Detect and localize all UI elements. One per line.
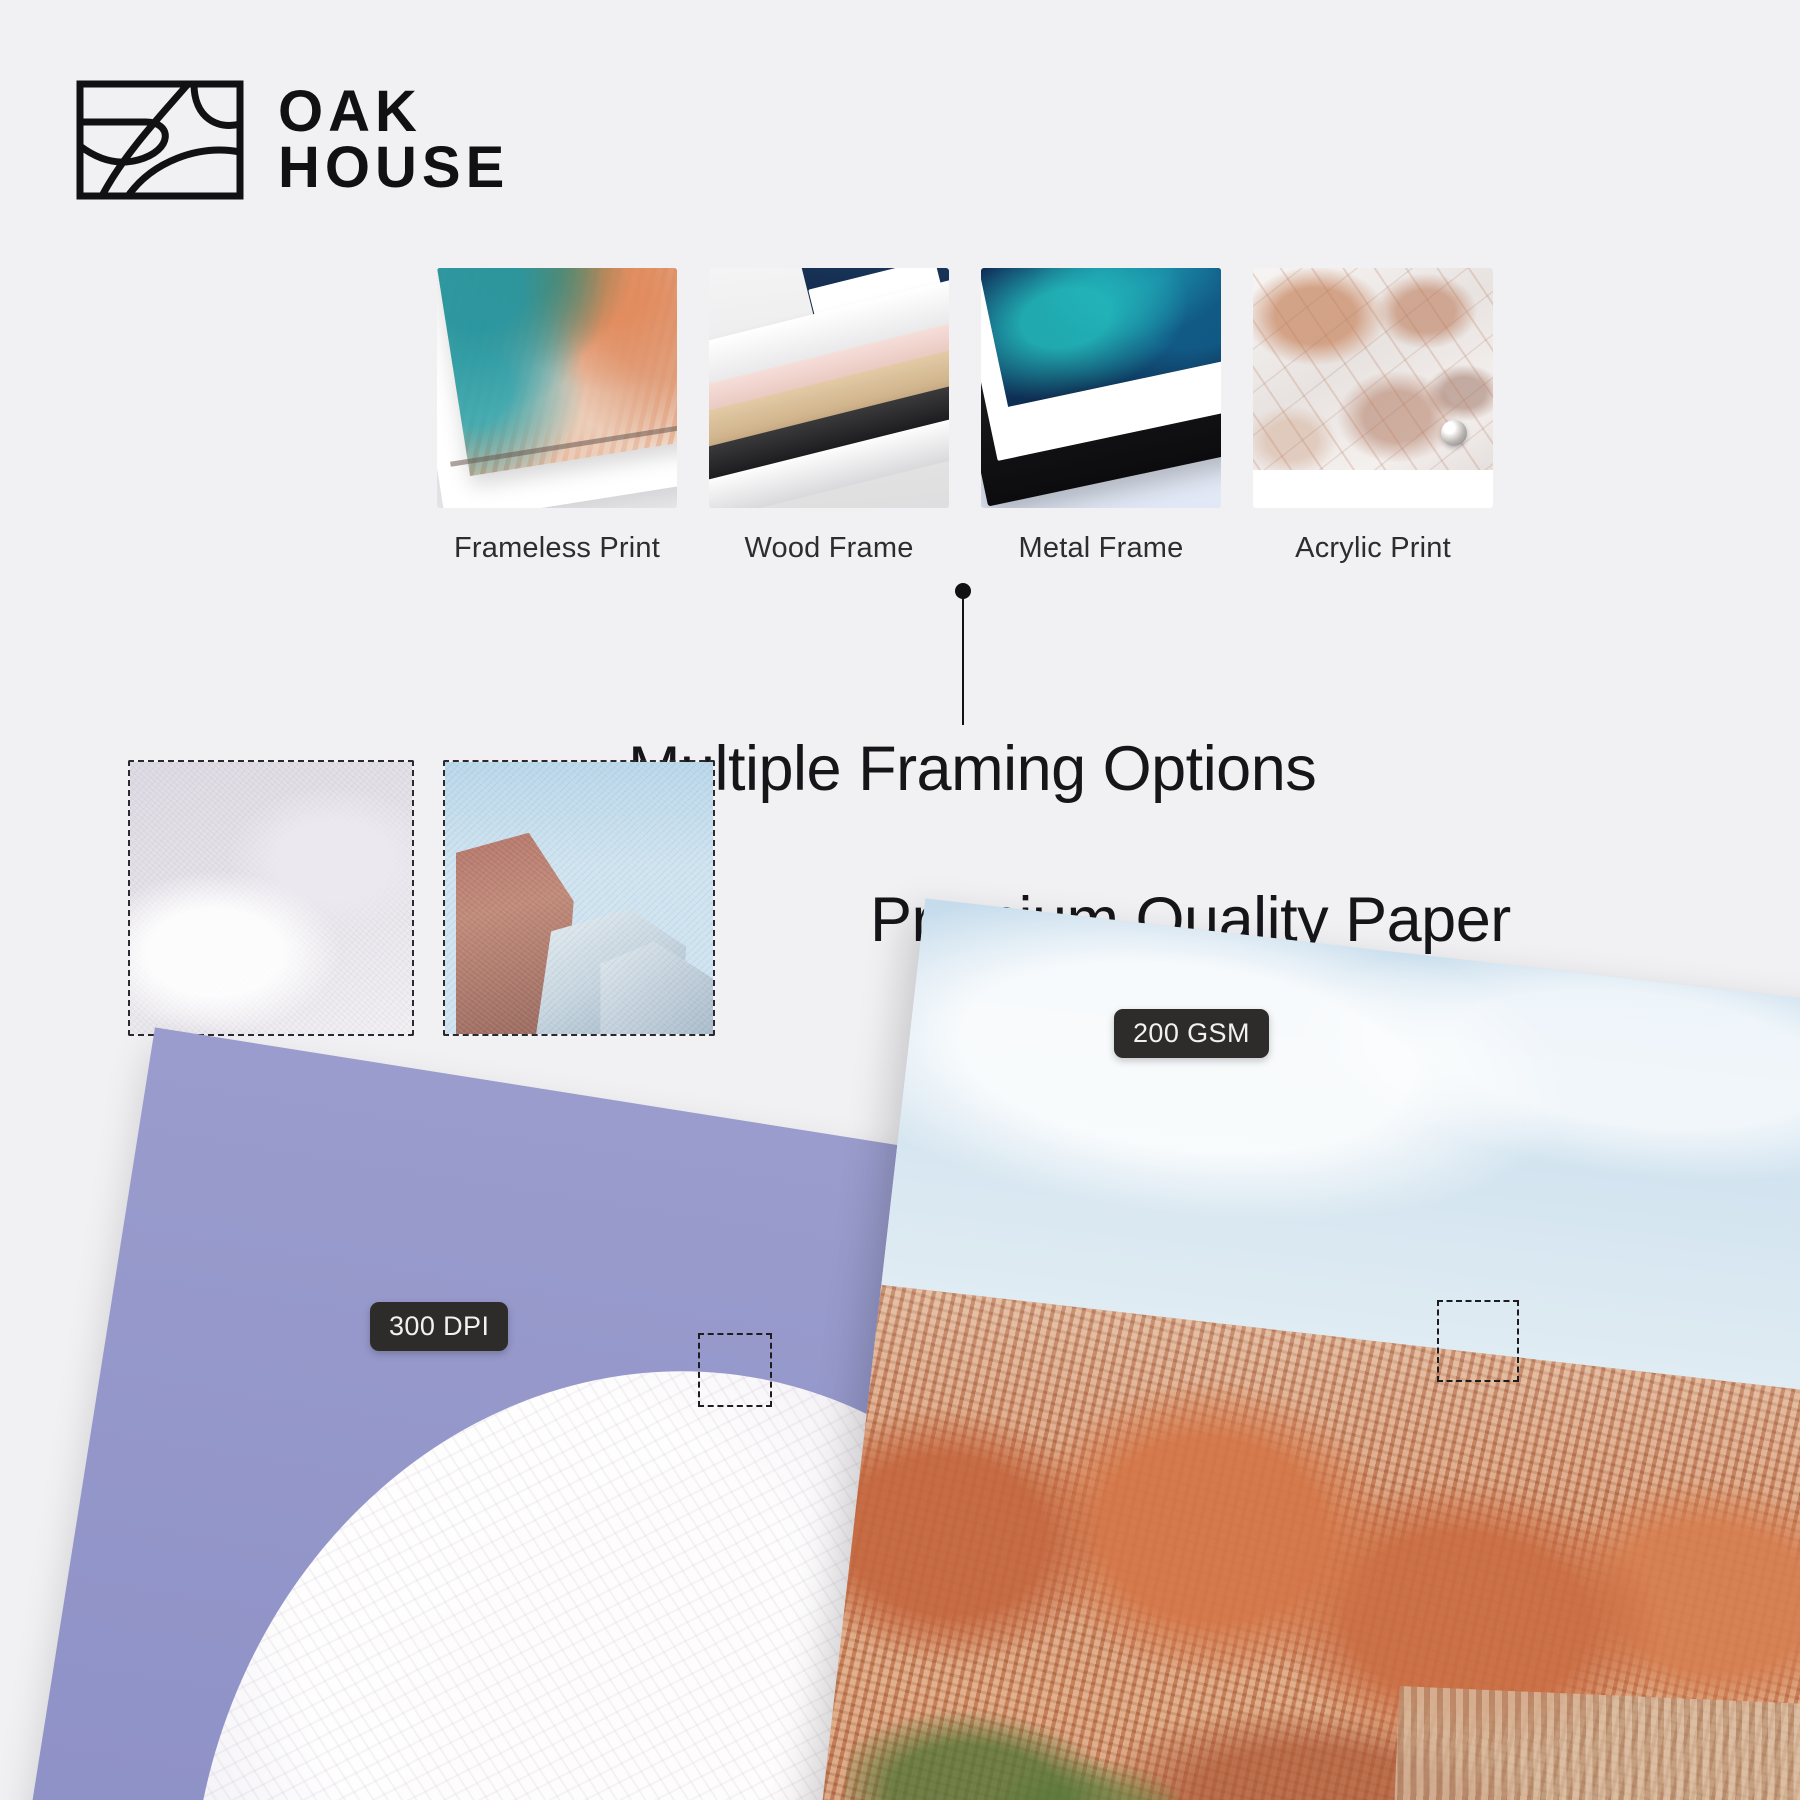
acrylic-print-thumbnail[interactable] [1253, 268, 1493, 508]
framing-option-acrylic-print[interactable]: Acrylic Print [1253, 268, 1493, 565]
moon-poster-mockup [14, 1027, 945, 1800]
city-crop-marker [1437, 1300, 1519, 1382]
metal-frame-thumbnail[interactable] [981, 268, 1221, 508]
infographic-canvas: OAK HOUSE Frameless Print [0, 0, 1800, 1800]
print-detail-swatch [443, 760, 715, 1036]
framing-option-wood-frame[interactable]: Wood Frame [709, 268, 949, 565]
framing-heading: Multiple Framing Options [628, 733, 1316, 805]
brand-name-line2: HOUSE [278, 140, 509, 196]
framing-option-frameless-print[interactable]: Frameless Print [437, 268, 677, 565]
standoff-screw-icon [1441, 420, 1467, 446]
paper-texture-swatch [128, 760, 414, 1036]
abstract-landscape-square-icon [76, 80, 244, 200]
dubrovnik-poster-mockup [803, 898, 1800, 1800]
dpi-badge: 300 DPI [370, 1302, 508, 1351]
moon-crop-marker [698, 1333, 772, 1407]
wood-frame-thumbnail[interactable] [709, 268, 949, 508]
framing-option-label: Wood Frame [709, 532, 949, 565]
brand-wordmark: OAK HOUSE [278, 84, 509, 195]
framing-callout-line [962, 597, 964, 725]
framing-option-metal-frame[interactable]: Metal Frame [981, 268, 1221, 565]
framing-option-label: Acrylic Print [1253, 532, 1493, 565]
brand-name-line1: OAK [278, 84, 509, 140]
frameless-print-thumbnail[interactable] [437, 268, 677, 508]
framing-options-strip: Frameless Print Wood Frame Met [437, 268, 1493, 565]
framing-option-label: Frameless Print [437, 532, 677, 565]
framing-option-label: Metal Frame [981, 532, 1221, 565]
brand-logo: OAK HOUSE [76, 80, 509, 200]
gsm-badge: 200 GSM [1114, 1009, 1269, 1058]
